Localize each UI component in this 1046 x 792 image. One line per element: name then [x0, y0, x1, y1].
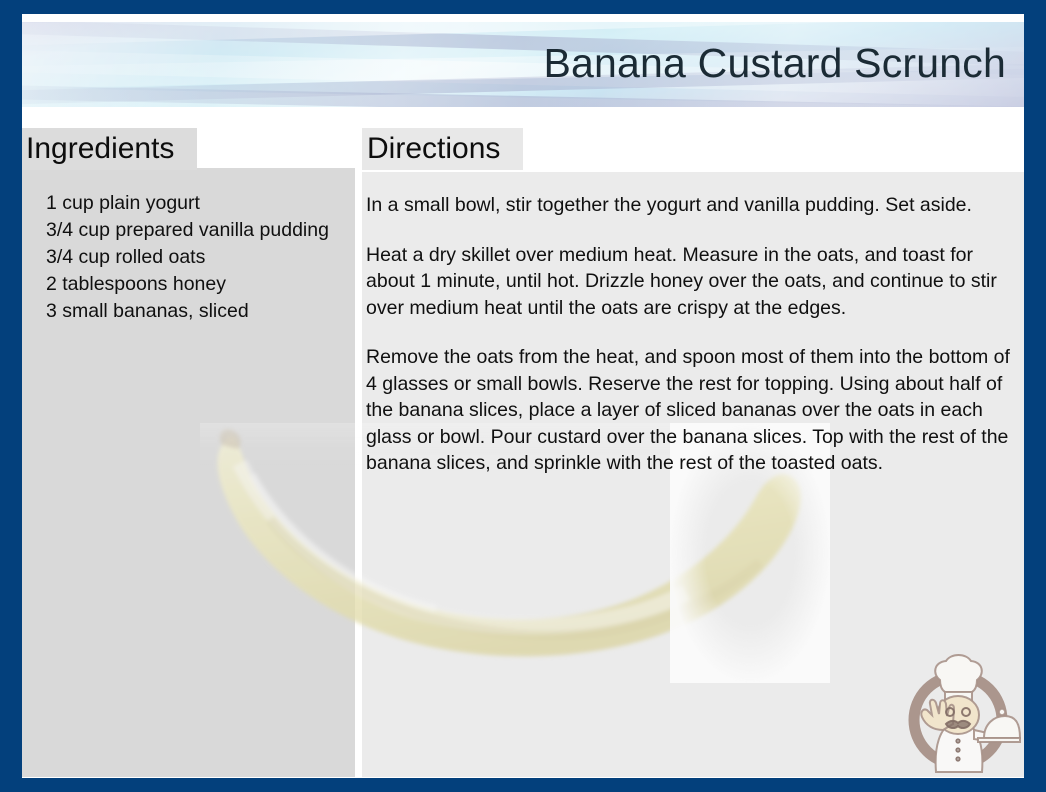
list-item: 3/4 cup rolled oats — [46, 244, 356, 271]
chef-mascot-logo — [896, 646, 1021, 774]
list-item: 3/4 cup prepared vanilla pudding — [46, 217, 356, 244]
page-title: Banana Custard Scrunch — [543, 40, 1006, 86]
ingredients-heading: Ingredients — [26, 128, 174, 170]
recipe-slide: Banana Custard Scrunch — [0, 0, 1046, 792]
list-item: 1 cup plain yogurt — [46, 190, 356, 217]
platter-tray-icon — [978, 738, 1020, 742]
directions-paragraph: In a small bowl, stir together the yogur… — [366, 192, 1012, 219]
chef-hat-icon — [935, 655, 982, 692]
list-item: 2 tablespoons honey — [46, 271, 356, 298]
ingredients-list: 1 cup plain yogurt 3/4 cup prepared vani… — [46, 190, 356, 325]
directions-paragraph: Heat a dry skillet over medium heat. Mea… — [366, 242, 1012, 322]
directions-paragraph: Remove the oats from the heat, and spoon… — [366, 344, 1012, 477]
cloche-knob-icon — [999, 709, 1005, 715]
directions-body: In a small bowl, stir together the yogur… — [366, 192, 1012, 477]
chef-mustache-icon — [946, 721, 970, 728]
list-item: 3 small bananas, sliced — [46, 298, 356, 325]
cloche-dome-icon — [984, 716, 1020, 738]
directions-heading: Directions — [367, 128, 500, 170]
